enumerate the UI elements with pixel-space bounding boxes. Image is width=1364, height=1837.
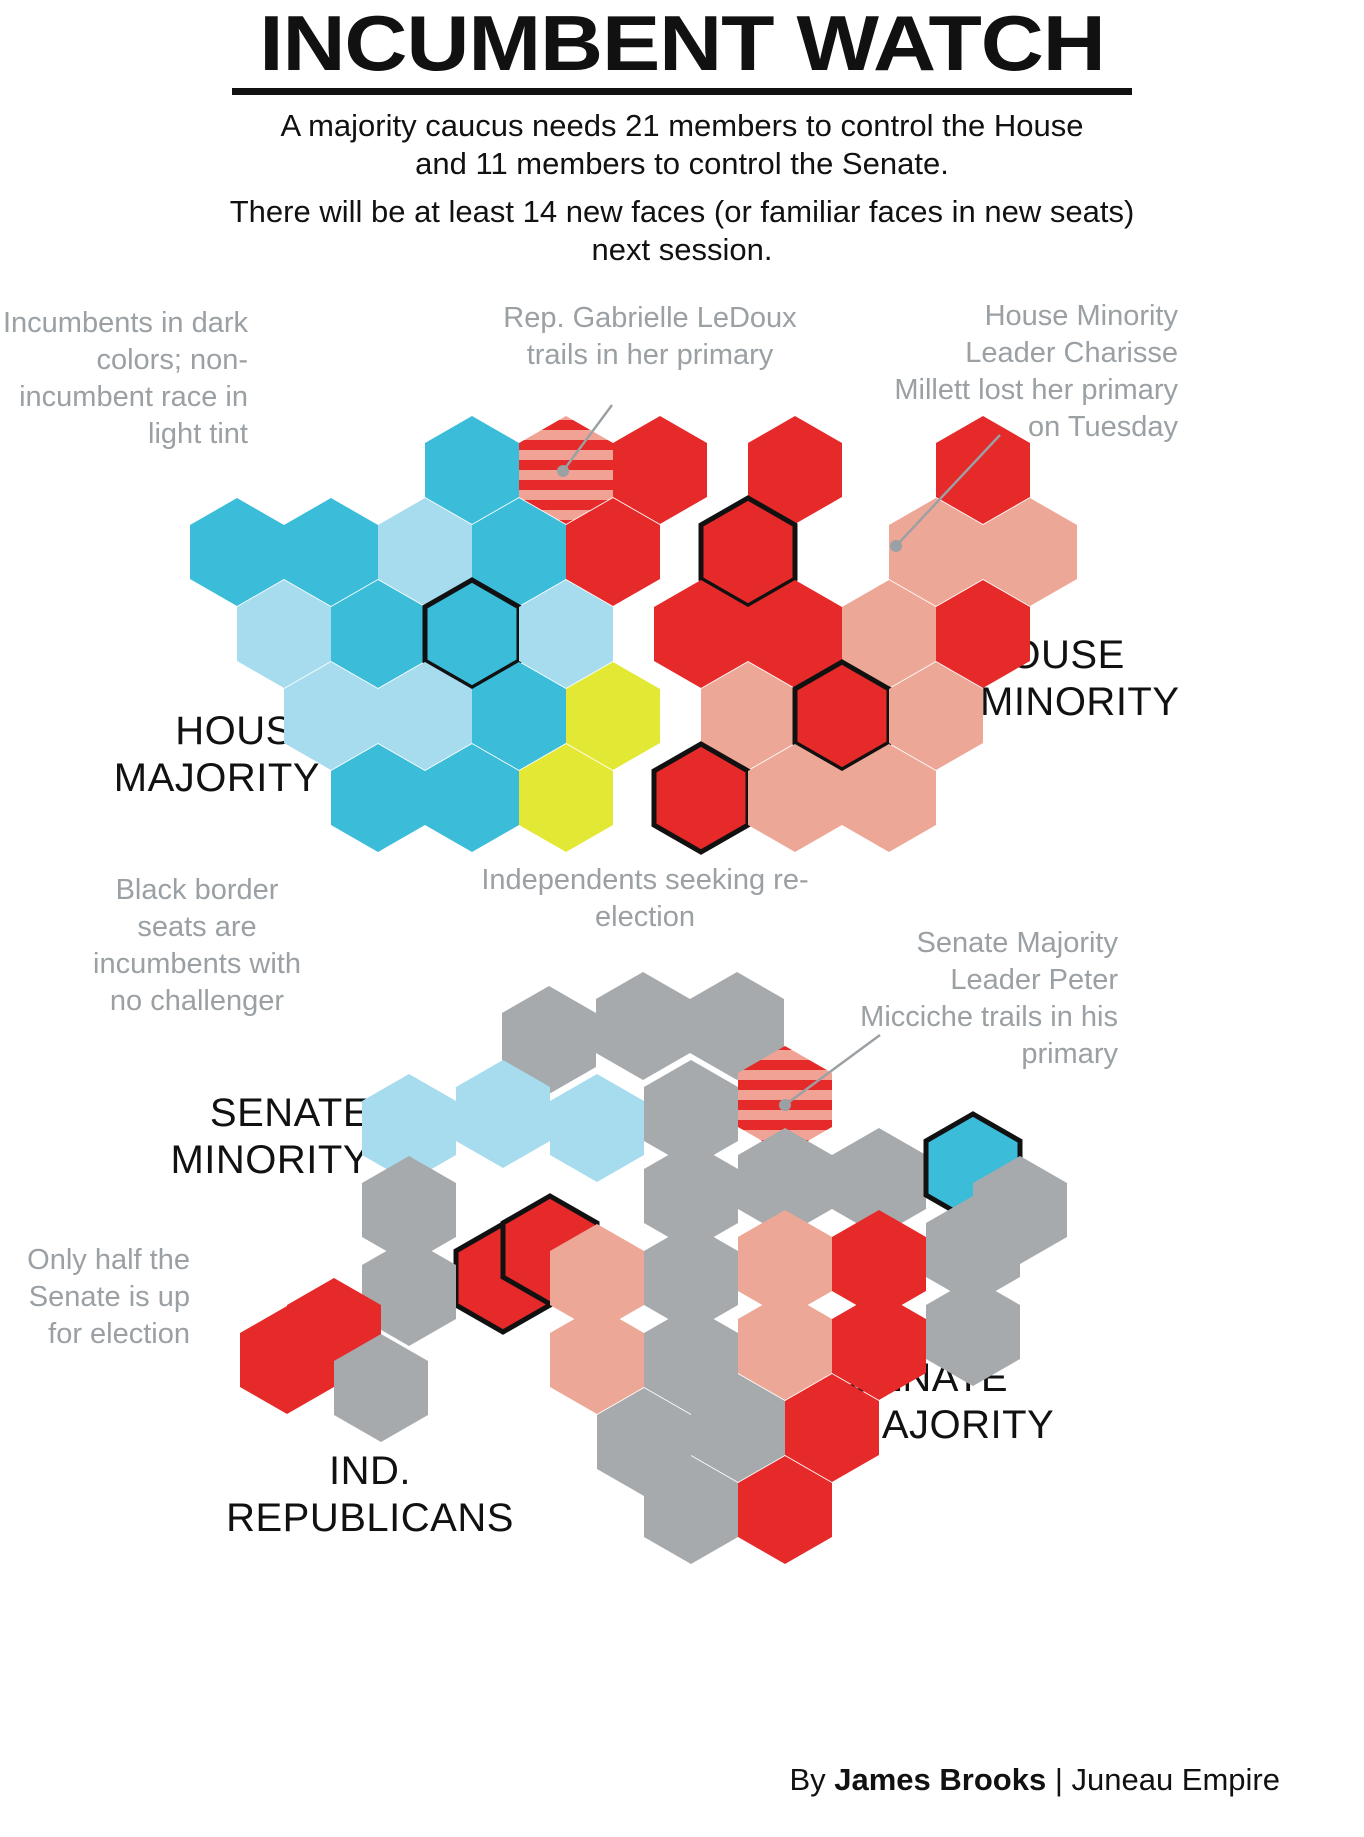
credit-line: By James Brooks | Juneau Empire (0, 1762, 1364, 1798)
leader-dot-micciche (779, 1099, 791, 1111)
credit-divider: | (1046, 1762, 1071, 1797)
hex-group-house-majority (190, 416, 707, 852)
hex-group-house-minority (654, 416, 1077, 852)
leader-dot-ledoux (557, 465, 569, 477)
credit-author: James Brooks (834, 1762, 1046, 1797)
infographic-canvas: INCUMBENT WATCH A majority caucus needs … (0, 0, 1364, 1837)
hex-seat (550, 1074, 644, 1182)
credit-by: By (789, 1762, 834, 1797)
credit-publication: Juneau Empire (1071, 1762, 1280, 1797)
leader-dot-millett (890, 540, 902, 552)
hex-seat-incumbent-no-challenger (654, 744, 748, 852)
hex-seat (596, 972, 690, 1080)
hex-seat (926, 1278, 1020, 1386)
hex-map (0, 0, 1364, 1837)
hex-group-senate (240, 972, 1067, 1564)
